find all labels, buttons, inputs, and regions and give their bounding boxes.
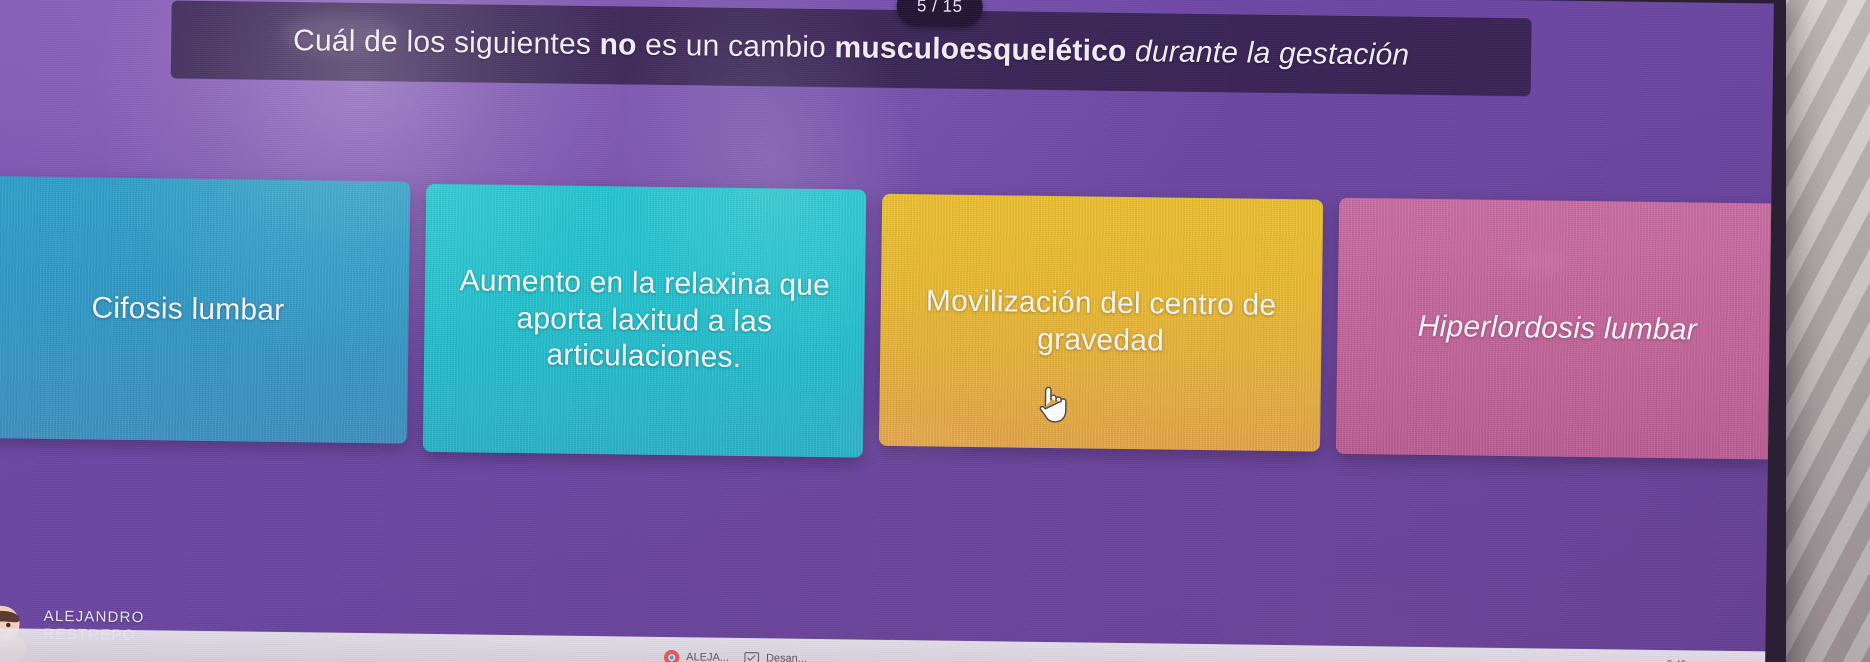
answer-option-2[interactable]: Aumento en la relaxina que aporta laxitu… — [422, 184, 866, 458]
answer-option-2-label: Aumento en la relaxina que aporta laxitu… — [441, 263, 847, 378]
answer-option-4-label: Hiperlordosis lumbar — [1418, 309, 1698, 349]
windows-taskbar[interactable]: ALEJA... Desan... 26°C — [0, 628, 1765, 662]
question-part-1: Cuál de los siguientes — [293, 24, 600, 61]
screen-content: 5 / 15 Cuál de los siguientes no es un c… — [0, 0, 1774, 662]
answer-option-4[interactable]: Hiperlordosis lumbar — [1335, 198, 1773, 460]
question-bold-no: no — [599, 28, 636, 61]
taskbar-item-0[interactable]: ALEJA... — [663, 648, 729, 662]
answer-option-1[interactable]: Cifosis lumbar — [0, 176, 410, 444]
question-bold-term: musculoesquelético — [834, 31, 1126, 68]
question-italic-part: durante la gestación — [1126, 35, 1409, 72]
taskbar-clock-time: 2:49 p. m. — [1667, 659, 1712, 662]
sun-cloud-icon — [1410, 658, 1427, 662]
window-icon — [743, 650, 760, 662]
question-text: Cuál de los siguientes no es un cambio m… — [293, 24, 1410, 73]
taskbar-clock[interactable]: 2:49 p. m. 5/06/2024 — [1666, 659, 1711, 662]
taskbar-item-1-label: Desan... — [766, 652, 807, 662]
player-name-first: ALEJANDRO — [44, 607, 145, 627]
answer-option-3[interactable]: Movilización del centro de gravedad — [879, 194, 1323, 452]
answer-option-1-label: Cifosis lumbar — [91, 290, 284, 329]
screenshot-photo: 5 / 15 Cuál de los siguientes no es un c… — [0, 0, 1870, 662]
taskbar-item-1[interactable]: Desan... — [743, 650, 807, 662]
question-counter: 5 / 15 — [896, 0, 983, 27]
question-banner: Cuál de los siguientes no es un cambio m… — [171, 0, 1532, 96]
answer-option-3-label: Movilización del centro de gravedad — [898, 283, 1303, 361]
chrome-icon — [663, 648, 680, 662]
taskbar-weather[interactable]: 26°C — [1410, 658, 1458, 662]
question-part-2: es un cambio — [636, 28, 834, 64]
taskbar-apps: ALEJA... Desan... — [0, 639, 1410, 662]
taskbar-tray: 26°C — [1410, 655, 1765, 662]
taskbar-item-0-label: ALEJA... — [686, 651, 729, 662]
answer-options: Cifosis lumbar Aumento en la relaxina qu… — [0, 176, 1774, 468]
